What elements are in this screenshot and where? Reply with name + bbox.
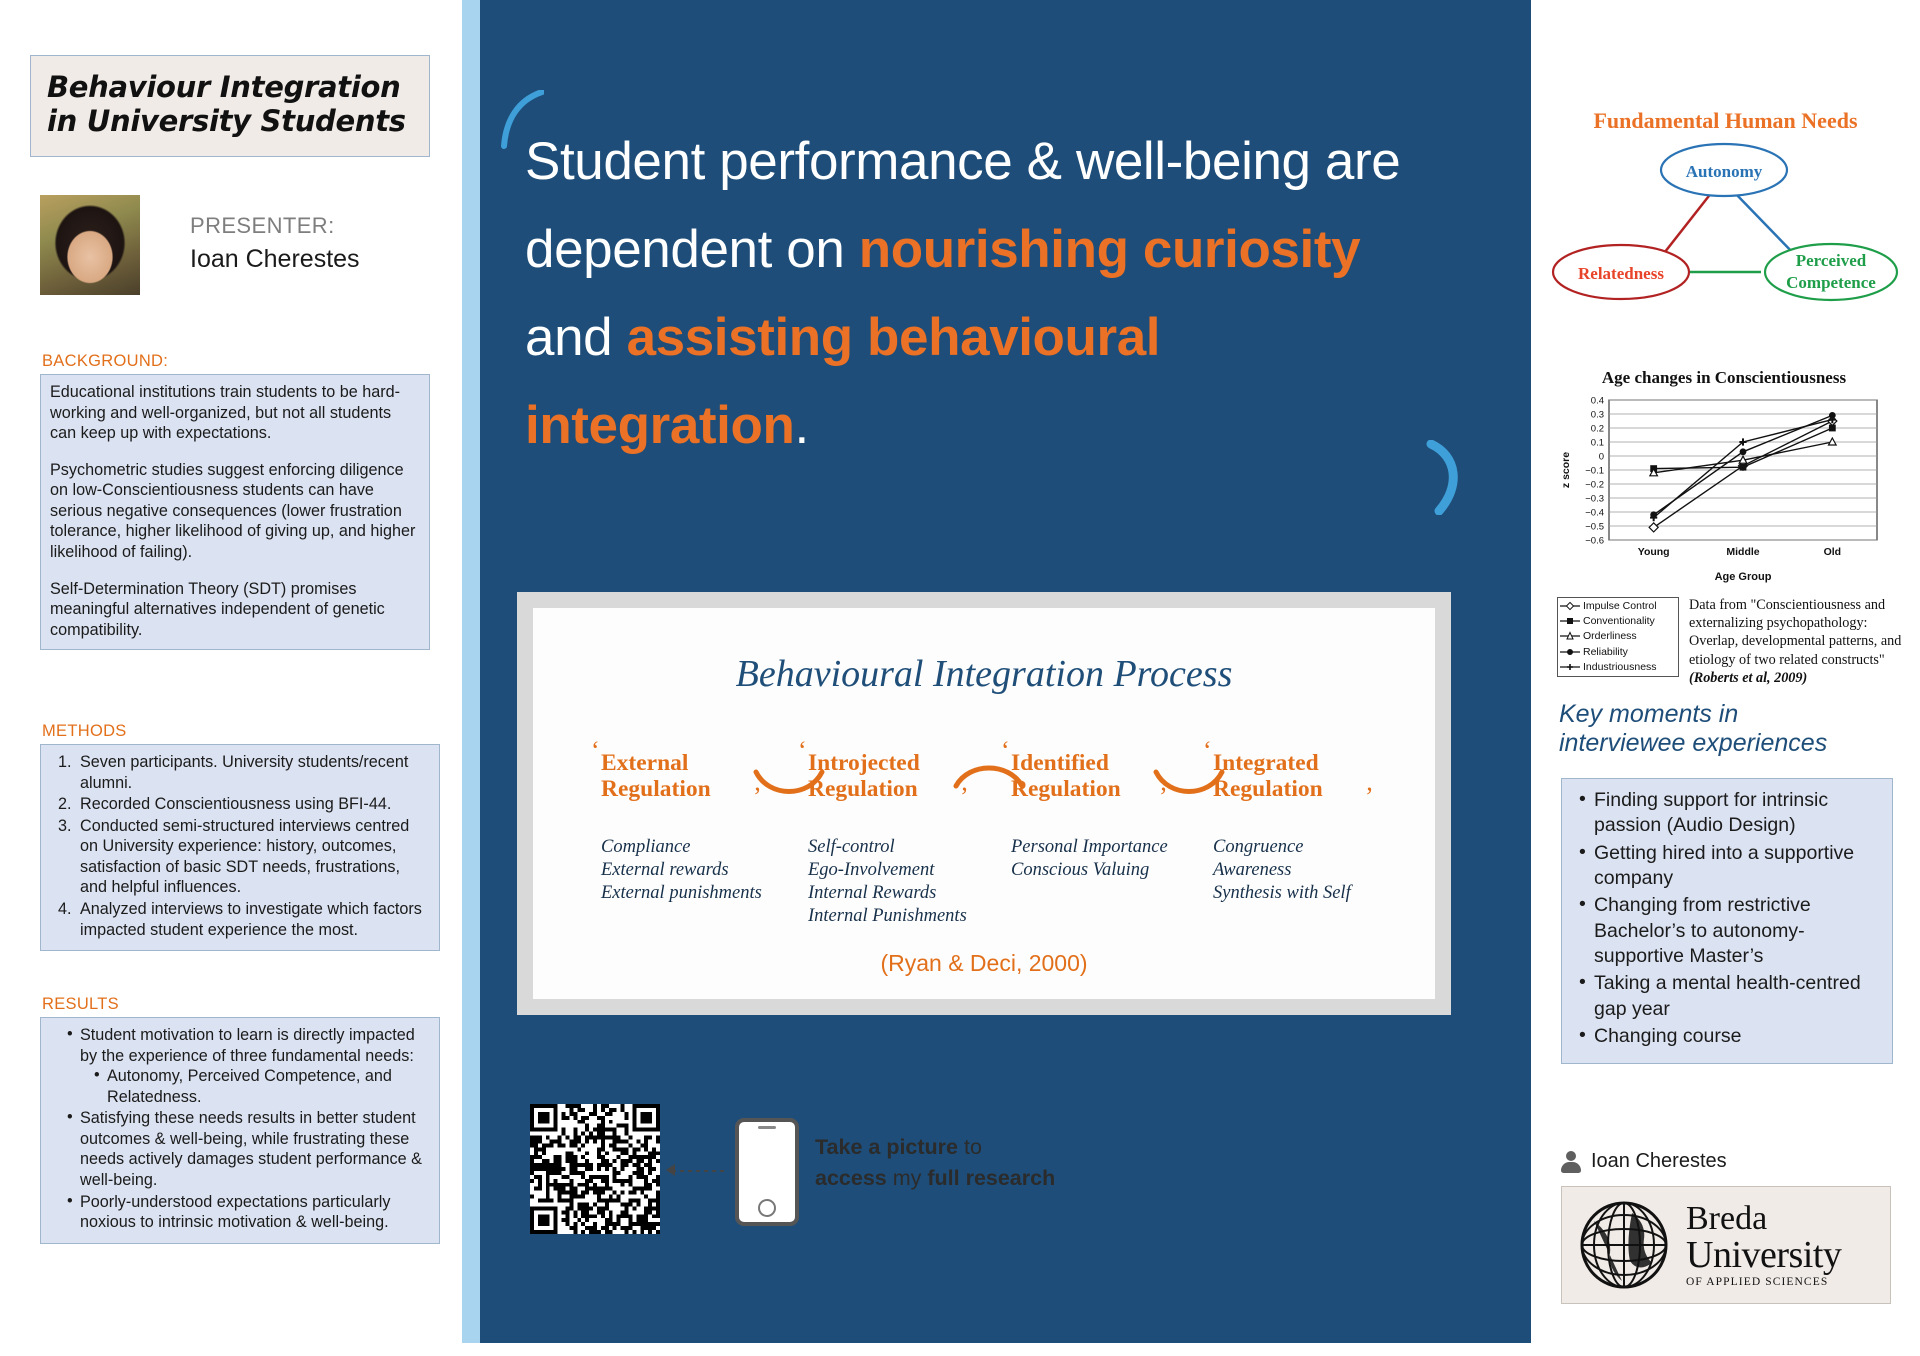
headline-highlight: nourishing curiosity (859, 220, 1360, 279)
results-heading: RESULTS (42, 995, 440, 1014)
stage-identified-items: Personal ImportanceConscious Valuing (1011, 836, 1226, 882)
legend-marker-icon (1560, 662, 1580, 672)
stage-integrated: ‘ IntegratedRegulation ’ CongruenceAware… (1213, 750, 1413, 803)
logo-line-1: Breda (1686, 1202, 1841, 1236)
chart-legend: Impulse ControlConventionalityOrderlines… (1557, 597, 1679, 677)
key-moment-item: Getting hired into a supportive company (1577, 841, 1881, 892)
page-title-line-2: in University Students (47, 104, 413, 138)
person-icon (1561, 1151, 1581, 1173)
results-subitem-list: Autonomy, Perceived Competence, and Rela… (80, 1066, 430, 1107)
key-moments-title: Key moments in interviewee experiences (1559, 700, 1899, 759)
svg-text:0.2: 0.2 (1591, 424, 1604, 435)
phone-icon (735, 1118, 799, 1226)
stage-identified-title-1: Identified (1011, 750, 1109, 776)
cta-bold-3: full research (927, 1166, 1055, 1190)
chart-plot: 0.40.30.20.10−0.1−0.2−0.3−0.4−0.5−0.6You… (1557, 390, 1891, 586)
svg-text:Age Group: Age Group (1715, 571, 1772, 583)
stage-introjected-items: Self-controlEgo-InvolvementInternal Rewa… (808, 836, 1023, 929)
legend-label: Orderliness (1583, 630, 1637, 642)
headline: Student performance & well-being are dep… (525, 118, 1445, 470)
poster-title-box: Behaviour Integration in University Stud… (30, 55, 430, 157)
results-subitem: Autonomy, Perceived Competence, and Rela… (94, 1066, 430, 1107)
stage-item: Awareness (1213, 859, 1428, 882)
logo-line-2: University (1686, 1236, 1841, 1274)
stage-item: Self-control (808, 836, 1023, 859)
results-item: Poorly-understood expectations particula… (67, 1192, 430, 1233)
stage-item: Internal Rewards (808, 882, 1023, 905)
poster-canvas: Behaviour Integration in University Stud… (0, 0, 1920, 1356)
background-section: BACKGROUND: Educational institutions tra… (40, 352, 430, 650)
chart-citation-text: Data from "Conscientiousness and externa… (1689, 597, 1901, 668)
qr-cta-row: Take a picture to access my full researc… (530, 1104, 1050, 1234)
svg-text:−0.5: −0.5 (1585, 522, 1604, 533)
stage-item: Personal Importance (1011, 836, 1226, 859)
key-moments-panel: Finding support for intrinsic passion (A… (1561, 778, 1893, 1064)
stage-identified-title-2: Regulation (1011, 776, 1121, 802)
presenter-label: PRESENTER: (190, 213, 335, 239)
background-paragraph: Psychometric studies suggest enforcing d… (50, 460, 420, 563)
background-heading: BACKGROUND: (42, 352, 430, 371)
logo-line-3: OF APPLIED SCIENCES (1686, 1277, 1841, 1289)
cta-bold-1: Take a picture (815, 1135, 958, 1159)
author-row: Ioan Cherestes (1561, 1150, 1727, 1173)
presenter-block: PRESENTER: Ioan Cherestes (40, 195, 440, 300)
right-column: Fundamental Human Needs Autonomy Related… (1531, 0, 1920, 1356)
methods-panel: Seven participants. University students/… (40, 744, 440, 951)
legend-label: Conventionality (1583, 615, 1655, 627)
legend-label: Reliability (1583, 646, 1628, 658)
stage-item: Internal Punishments (808, 905, 1023, 928)
svg-text:Middle: Middle (1726, 546, 1759, 558)
methods-item: Conducted semi-structured interviews cen… (76, 816, 430, 898)
stage-item: Conscious Valuing (1011, 859, 1226, 882)
cta-rest-2: my (887, 1166, 928, 1190)
stage-integrated-items: CongruenceAwarenessSynthesis with Self (1213, 836, 1428, 905)
stage-integrated-title-1: Integrated (1213, 750, 1319, 776)
svg-text:−0.4: −0.4 (1585, 508, 1604, 519)
key-moment-item: Finding support for intrinsic passion (A… (1577, 788, 1881, 839)
chart-citation: Data from "Conscientiousness and externa… (1689, 596, 1914, 687)
legend-marker-icon (1560, 616, 1580, 626)
svg-text:0.3: 0.3 (1591, 410, 1604, 421)
diagram-citation: (Ryan & Deci, 2000) (533, 950, 1435, 977)
avatar (40, 195, 140, 295)
methods-item: Analyzed interviews to investigate which… (76, 899, 430, 940)
conscientiousness-chart: Age changes in Conscientiousness 0.40.30… (1557, 368, 1891, 586)
svg-text:z score: z score (1560, 452, 1572, 488)
methods-item: Seven participants. University students/… (76, 752, 430, 793)
behavioural-integration-diagram: Behavioural Integration Process ‘ Extern… (517, 592, 1451, 1015)
chart-citation-ref: (Roberts et al, 2009) (1689, 670, 1807, 686)
svg-text:Old: Old (1824, 546, 1842, 558)
svg-text:−0.3: −0.3 (1585, 494, 1604, 505)
accent-bar (462, 0, 480, 1343)
fundamental-needs-diagram: Autonomy Relatedness Perceived Competenc… (1549, 132, 1901, 322)
key-moments-list: Finding support for intrinsic passion (A… (1573, 788, 1881, 1049)
headline-text: . (794, 396, 808, 455)
legend-item: Conventionality (1558, 613, 1678, 628)
chart-title: Age changes in Conscientiousness (1557, 368, 1891, 388)
legend-item: Industriousness (1558, 660, 1678, 675)
arc-connector-2 (953, 760, 1025, 794)
svg-text:0.4: 0.4 (1591, 396, 1604, 407)
legend-item: Reliability (1558, 644, 1678, 659)
results-panel: Student motivation to learn is directly … (40, 1017, 440, 1244)
methods-item: Recorded Conscientiousness using BFI-44. (76, 794, 430, 815)
stage-external-title-1: External (601, 750, 688, 776)
results-item: Satisfying these needs results in better… (67, 1108, 430, 1190)
legend-item: Impulse Control (1558, 598, 1678, 613)
stage-external-items: ComplianceExternal rewardsExternal punis… (601, 836, 816, 905)
key-moment-item: Changing from restrictive Bachelor’s to … (1577, 893, 1881, 969)
svg-text:0.1: 0.1 (1591, 438, 1604, 449)
legend-marker-icon (1560, 647, 1580, 657)
results-section: RESULTS Student motivation to learn is d… (40, 995, 440, 1244)
left-column: Behaviour Integration in University Stud… (0, 0, 462, 1356)
stage-external-title-2: Regulation (601, 776, 711, 802)
methods-heading: METHODS (42, 722, 440, 741)
need-node-autonomy: Autonomy (1686, 162, 1763, 181)
key-moments-title-1: Key moments in (1559, 700, 1899, 729)
needs-diagram-title: Fundamental Human Needs (1531, 108, 1920, 134)
stage-item: Synthesis with Self (1213, 882, 1428, 905)
stage-item: External punishments (601, 882, 816, 905)
legend-marker-icon (1560, 601, 1580, 611)
qr-cta-text: Take a picture to access my full researc… (815, 1132, 1075, 1194)
need-node-competence-1: Perceived (1796, 251, 1867, 270)
key-moment-item: Taking a mental health-centred gap year (1577, 971, 1881, 1022)
cta-rest-1: to (958, 1135, 982, 1159)
globe-icon (1572, 1195, 1676, 1295)
stage-item: Congruence (1213, 836, 1428, 859)
background-panel: Educational institutions train students … (40, 374, 430, 650)
arc-connector-1 (753, 768, 825, 802)
diagram-canvas: Behavioural Integration Process ‘ Extern… (533, 608, 1435, 999)
presenter-name: Ioan Cherestes (190, 245, 360, 274)
legend-label: Impulse Control (1583, 600, 1657, 612)
university-logo: Breda University OF APPLIED SCIENCES (1561, 1186, 1891, 1304)
legend-label: Industriousness (1583, 661, 1657, 673)
logo-text: Breda University OF APPLIED SCIENCES (1686, 1202, 1841, 1289)
stage-item: External rewards (601, 859, 816, 882)
cta-bold-2: access (815, 1166, 887, 1190)
need-node-relatedness: Relatedness (1578, 264, 1664, 283)
legend-marker-icon (1560, 631, 1580, 641)
key-moment-item: Changing course (1577, 1024, 1881, 1049)
need-node-competence-2: Competence (1786, 273, 1876, 292)
author-name: Ioan Cherestes (1591, 1150, 1727, 1173)
background-paragraph: Self-Determination Theory (SDT) promises… (50, 579, 420, 641)
results-list: Student motivation to learn is directly … (50, 1025, 430, 1233)
svg-text:−0.6: −0.6 (1585, 536, 1604, 547)
results-item: Student motivation to learn is directly … (67, 1025, 430, 1107)
background-paragraph: Educational institutions train students … (50, 382, 420, 444)
svg-text:Young: Young (1638, 546, 1670, 558)
svg-text:0: 0 (1599, 452, 1604, 463)
key-moments-title-2: interviewee experiences (1559, 729, 1899, 758)
stage-integrated-title-2: Regulation (1213, 776, 1323, 802)
headline-text: and (525, 308, 627, 367)
page-title-line-1: Behaviour Integration (47, 70, 413, 104)
stage-item: Compliance (601, 836, 816, 859)
svg-text:−0.2: −0.2 (1585, 480, 1604, 491)
stage-item: Ego-Involvement (808, 859, 1023, 882)
legend-item: Orderliness (1558, 629, 1678, 644)
diagram-title: Behavioural Integration Process (533, 652, 1435, 696)
qr-code[interactable] (530, 1104, 660, 1234)
arc-connector-3 (1153, 768, 1225, 802)
dotted-connector (672, 1170, 728, 1172)
methods-section: METHODS Seven participants. University s… (40, 722, 440, 951)
svg-text:−0.1: −0.1 (1585, 466, 1604, 477)
methods-list: Seven participants. University students/… (50, 752, 430, 940)
